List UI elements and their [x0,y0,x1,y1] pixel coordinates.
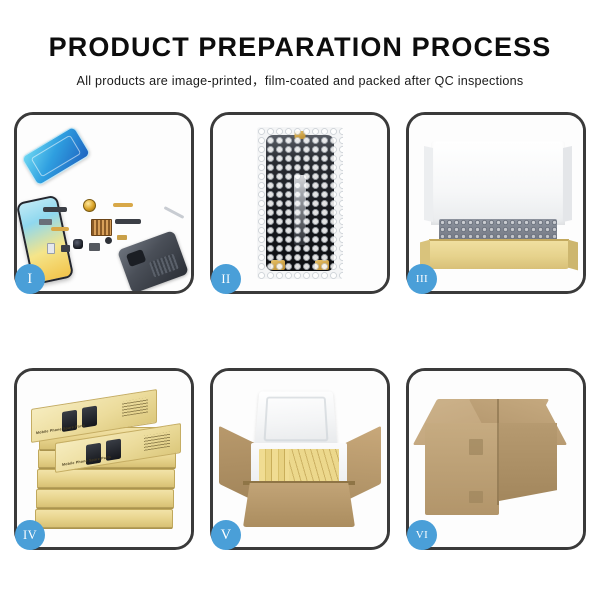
step-badge-3: III [407,264,437,294]
step-panel-3[interactable]: III Item placed in a kraft inner box wit… [406,112,586,294]
product-inspection-scene [17,115,191,291]
phone-housing-icon [117,230,189,291]
box-stack: Mobile Phone Spare Parts Mobile Phone Sp… [31,393,179,529]
carton-front-panel [243,483,355,527]
box-label-text: Mobile Phone Spare Parts [36,423,85,435]
small-part-icon [39,219,52,225]
step-panel-2[interactable]: II Screen assembly sealed inside a bubbl… [210,112,390,294]
step-badge-1: I [15,264,45,294]
bubble-texture [257,127,343,279]
carton-seam [497,399,499,505]
step-5-image [213,371,387,547]
chip-grid-icon [91,219,112,236]
packed-boxes-icon [259,449,339,481]
foam-cooler-lid-icon [255,391,338,447]
step-4-image: Mobile Phone Spare Parts Mobile Phone Sp… [17,371,191,547]
flex-cable-icon [51,227,69,231]
label-text-lines [122,397,148,416]
page-title: PRODUCT PREPARATION PROCESS [0,33,600,61]
step-2-image [213,115,387,291]
carton-side-face [499,423,557,501]
foam-lid-icon [431,141,565,225]
small-part-icon [105,237,112,244]
step-badge-2: II [211,264,241,294]
small-part-icon [117,235,127,240]
carton-front-face [425,423,499,515]
tweezers-icon [164,206,185,219]
screen-protector-icon [21,125,92,186]
step-1-image [17,115,191,291]
camera-module-icon [73,239,83,249]
stacked-box [35,509,173,529]
step-badge-6: VI [407,520,437,550]
stacked-box [36,489,174,509]
step-panel-1[interactable]: I Phone screens, tempered glass protecto… [14,112,194,294]
gold-component-icon [83,199,96,212]
step-6-image [409,371,583,547]
carton-tape-icon [469,439,483,455]
flex-cable-icon [115,219,141,224]
flex-cable-icon [113,203,133,207]
step-panel-5[interactable]: V Boxes loaded into a foam cooler inside… [210,368,390,550]
process-steps-grid: I Phone screens, tempered glass protecto… [14,112,586,550]
step-badge-5: V [211,520,241,550]
infographic-page: PRODUCT PREPARATION PROCESS All products… [0,0,600,600]
step-panel-6[interactable]: VI Sealed brown shipping carton ready fo… [406,368,586,550]
page-subtitle: All products are image-printed，film-coat… [0,70,600,89]
step-3-image [409,115,583,291]
label-text-lines [144,432,170,451]
carton-tape-icon [469,491,483,503]
bubble-wrap-bag [257,127,343,279]
flex-cable-icon [43,207,67,212]
header: PRODUCT PREPARATION PROCESS All products… [0,0,600,89]
small-part-icon [47,243,55,254]
step-panel-4[interactable]: Mobile Phone Spare Parts Mobile Phone Sp… [14,368,194,550]
step-badge-4: IV [15,520,45,550]
small-part-icon [61,245,70,252]
kraft-box-base-icon [429,241,569,269]
small-part-icon [89,243,100,251]
